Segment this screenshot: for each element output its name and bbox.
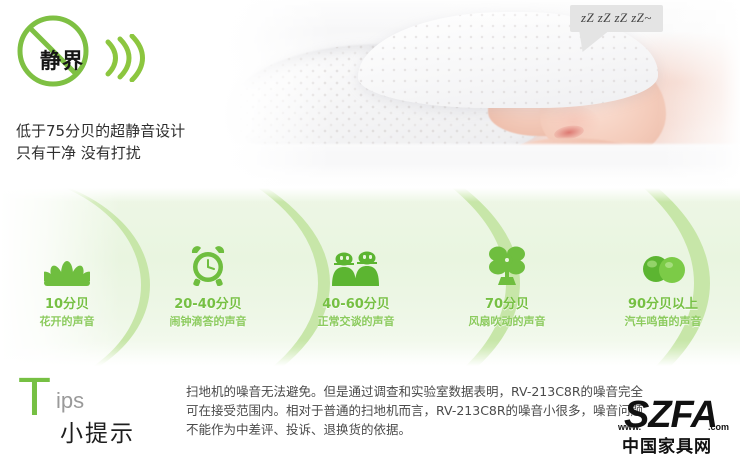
decibel-value: 90分贝以上 [588,293,738,312]
watermark-suffix: .com [708,422,729,432]
speech-bubble-tail [577,32,608,52]
sleep-speech-bubble: zZ zZ zZ zZ~ [570,5,663,32]
decibel-value: 20-40分贝 [133,293,283,312]
tips-logo: T ips 小提示 [18,376,168,446]
decibel-desc: 风扇吹动的声音 [432,313,582,329]
decibel-value: 40-60分贝 [281,293,431,312]
two-people-talking-icon [281,242,431,286]
decibel-desc: 闹钟滴答的声音 [133,313,283,329]
decibel-scale-band: 10分贝 花开的声音 [0,188,740,366]
decibel-item-20-40db: 20-40分贝 闹钟滴答的声音 [133,242,283,329]
promo-page: zZ zZ zZ zZ~ 静界 低于75分贝的超静音设计 只有干净 没有打扰 [0,0,740,460]
watermark-site-cn: 中国家具网 [622,432,712,457]
logo-label: 静界 [40,45,84,75]
decibel-value: 10分贝 [0,293,142,312]
tips-suffix: ips [56,388,84,414]
alarm-clock-icon [133,242,283,286]
decibel-value: 70分贝 [432,293,582,312]
decibel-item-70db: 70分贝 风扇吹动的声音 [432,242,582,329]
decibel-item-10db: 10分贝 花开的声音 [0,242,142,329]
lotus-flower-icon [0,242,142,286]
decibel-desc: 正常交谈的声音 [281,313,431,329]
decibel-item-40-60db: 40-60分贝 正常交谈的声音 [281,242,431,329]
car-horn-icon [588,242,738,286]
watermark-prefix: www. [618,422,641,432]
tips-label-cn: 小提示 [60,414,135,448]
band-top-fade [0,188,740,202]
tips-letter-t: T [18,370,51,424]
site-watermark: SZFA www. .com 中国家具网 [604,398,736,456]
headline-text: 低于75分贝的超静音设计 只有干净 没有打扰 [16,120,185,164]
sound-waves-icon [102,34,150,87]
headline-line-1: 低于75分贝的超静音设计 [16,122,185,140]
electric-fan-icon [432,242,582,286]
decibel-desc: 花开的声音 [0,313,142,329]
headline-line-2: 只有干净 没有打扰 [16,142,185,164]
quiet-logo: 静界 [14,12,214,92]
hero-section: zZ zZ zZ zZ~ 静界 低于75分贝的超静音设计 只有干净 没有打扰 [0,0,740,190]
decibel-desc: 汽车鸣笛的声音 [588,313,738,329]
decibel-item-90db: 90分贝以上 汽车鸣笛的声音 [588,242,738,329]
band-bottom-fade [0,340,740,366]
